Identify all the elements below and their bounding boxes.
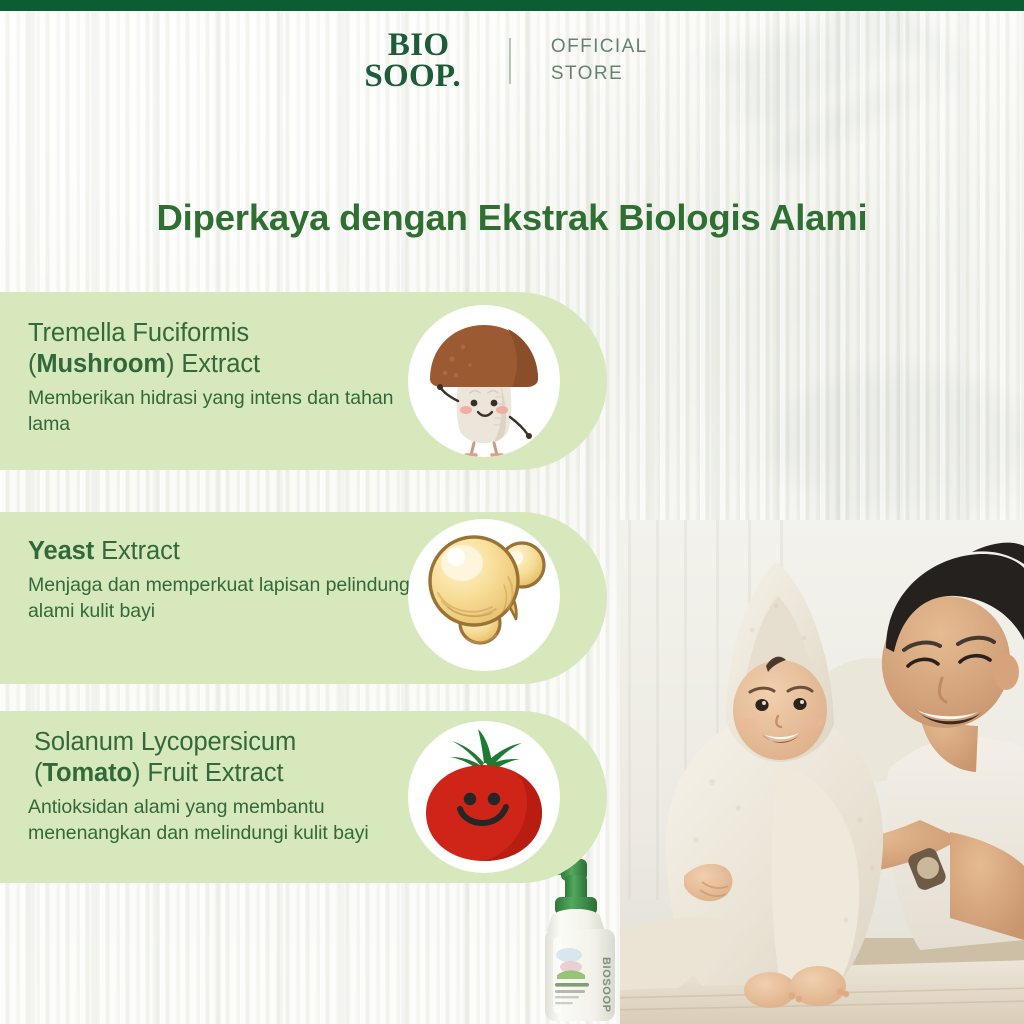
official-store-line-2: STORE <box>551 61 648 88</box>
ingredient-description-mushroom: Memberikan hidrasi yang intens dan tahan… <box>28 386 422 438</box>
father-and-baby-photo <box>620 520 1024 1024</box>
brand-header: BIO SOOP. OFFICIAL STORE <box>0 30 1024 91</box>
svg-text:BIOSOOP: BIOSOOP <box>600 957 612 1013</box>
ingredient-text-tomato: Solanum Lycopersicum (Tomato) Fruit Extr… <box>28 727 422 847</box>
ingredient-name-latin: Tremella Fuciformis <box>28 319 249 347</box>
ingredient-name-mushroom: Tremella Fuciformis (Mushroom) Extract <box>28 318 422 380</box>
yeast-icon <box>408 519 560 671</box>
poster-canvas: BIO SOOP. OFFICIAL STORE Diperkaya denga… <box>0 0 1024 1024</box>
ingredient-text-yeast: Yeast Extract Menjaga dan memperkuat lap… <box>28 536 422 625</box>
logo-line-2: SOOP. <box>364 61 461 92</box>
ingredient-description-yeast: Menjaga dan memperkuat lapisan pelindung… <box>28 573 422 625</box>
ingredient-name-tomato: Solanum Lycopersicum (Tomato) Fruit Extr… <box>28 727 422 789</box>
ingredient-name-common: Mushroom <box>36 350 166 378</box>
top-green-bar <box>0 0 1024 11</box>
ingredient-name-common: Yeast <box>28 537 94 565</box>
ingredient-name-yeast: Yeast Extract <box>28 536 422 567</box>
tomato-icon <box>408 721 560 873</box>
logo-line-1: BIO <box>376 30 461 61</box>
ingredient-name-latin: Solanum Lycopersicum <box>34 728 296 756</box>
ingredient-name-common: Tomato <box>42 759 132 787</box>
ingredient-icon-circle-yeast <box>408 519 560 671</box>
ingredient-name-suffix: ) Extract <box>166 350 260 378</box>
ingredient-description-tomato: Antioksidan alami yang membantu menenang… <box>28 795 422 847</box>
ingredient-icon-circle-mushroom <box>408 305 560 457</box>
biosoop-logo: BIO SOOP. <box>376 30 461 91</box>
official-store-label: OFFICIAL STORE <box>551 34 648 88</box>
official-store-line-1: OFFICIAL <box>551 34 648 61</box>
ingredient-name-suffix: ) Fruit Extract <box>132 759 284 787</box>
mushroom-icon <box>408 305 560 457</box>
ingredient-name-suffix: Extract <box>94 537 180 565</box>
ingredient-text-mushroom: Tremella Fuciformis (Mushroom) Extract M… <box>28 318 422 438</box>
logo-divider <box>509 38 511 84</box>
ingredient-icon-circle-tomato <box>408 721 560 873</box>
page-title: Diperkaya dengan Ekstrak Biologis Alami <box>0 197 1024 239</box>
